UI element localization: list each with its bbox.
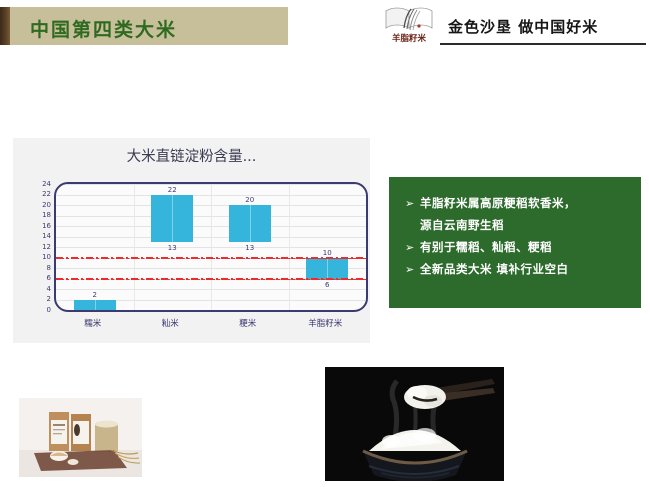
chart-y-tick-label: 12 (42, 244, 51, 251)
brand-logo-icon: 羊脂籽米 (378, 4, 440, 46)
chart-x-tick (211, 184, 212, 310)
chart-bar (306, 258, 348, 279)
chart-x-axis: 糯米籼米粳米羊脂籽米 (54, 315, 368, 331)
chart-panel: 大米直链淀粉含量... 242220181614121086420 202213… (13, 138, 370, 343)
callout-item-text: 全新品类大米 填补行业空白 (420, 262, 569, 276)
chart-category-label: 糯米 (56, 317, 130, 329)
chart-y-axis: 242220181614121086420 (27, 182, 51, 312)
chart-bar-bottom-label: 13 (152, 244, 192, 252)
chart-bar-bottom-label: 13 (230, 244, 270, 252)
chart-category-label: 籼米 (134, 317, 208, 329)
brand-block: 羊脂籽米 金色沙垦 做中国好米 (378, 4, 646, 48)
chart-bar (151, 195, 193, 242)
chart-category-label: 羊脂籽米 (289, 317, 363, 329)
chart-bar-divider (95, 300, 96, 311)
chart-bar-top-label: 10 (307, 249, 347, 257)
chart-y-tick-label: 6 (47, 275, 51, 282)
brand-tagline: 金色沙垦 做中国好米 (448, 16, 598, 37)
banner-left-edge (0, 7, 10, 45)
brand-underline (440, 43, 646, 45)
brand-logo-name: 羊脂籽米 (378, 32, 440, 44)
arrow-bullet-icon: ➢ (405, 263, 420, 276)
chart-plot-inner: 2022132013106 (56, 184, 366, 310)
callout-item-continuation: 源自云南野生稻 (405, 217, 650, 233)
callout-box: ➢羊脂籽米属高原粳稻软香米，源自云南野生稻➢有别于糯稻、籼稻、粳稻➢全新品类大米… (389, 177, 641, 308)
arrow-bullet-icon: ➢ (405, 241, 420, 254)
chart-reference-line (56, 279, 366, 280)
chart-y-tick-label: 24 (42, 181, 51, 188)
chart-bar (229, 205, 271, 242)
chart-bar-divider (327, 258, 328, 279)
rice-bowl-photo (325, 367, 504, 481)
chart-bar-top-label: 2 (75, 291, 115, 299)
chart-plot-area: 2022132013106 (54, 182, 368, 312)
chart-y-tick-label: 16 (42, 223, 51, 230)
chart-bar-top-label: 20 (230, 196, 270, 204)
callout-item: ➢有别于糯稻、籼稻、粳稻 (405, 239, 637, 255)
callout-item-text: 有别于糯稻、籼稻、粳稻 (420, 240, 552, 254)
open-book-icon (378, 4, 440, 34)
chart-y-tick-label: 10 (42, 254, 51, 261)
chart-bar (74, 300, 116, 311)
chart-bar-divider (250, 205, 251, 242)
chart-y-tick-label: 4 (47, 286, 51, 293)
callout-item: ➢全新品类大米 填补行业空白 (405, 261, 637, 277)
chart-y-tick-label: 14 (42, 233, 51, 240)
chart-bar-divider (172, 195, 173, 242)
chart-y-tick-label: 20 (42, 202, 51, 209)
arrow-bullet-icon: ➢ (405, 197, 420, 210)
chart-y-tick-label: 0 (47, 307, 51, 314)
callout-item-text: 羊脂籽米属高原粳稻软香米， (420, 196, 576, 210)
chart-y-tick-label: 18 (42, 212, 51, 219)
rice-packaging-illustration (19, 398, 142, 477)
cooked-rice-bowl-illustration (325, 367, 504, 481)
chart-title: 大米直链淀粉含量... (13, 145, 370, 166)
page-title: 中国第四类大米 (30, 15, 177, 42)
chart-category-label: 粳米 (211, 317, 285, 329)
chart-y-tick-label: 22 (42, 191, 51, 198)
chart-y-tick-label: 8 (47, 265, 51, 272)
chart-bar-bottom-label: 6 (307, 281, 347, 289)
chart-bar-top-label: 22 (152, 186, 192, 194)
chart-x-tick (289, 184, 290, 310)
chart-y-tick-label: 2 (47, 296, 51, 303)
callout-item: ➢羊脂籽米属高原粳稻软香米， (405, 195, 637, 211)
chart-reference-line (56, 258, 366, 259)
chart-x-tick (134, 184, 135, 310)
product-photo (19, 398, 142, 477)
header-banner: 中国第四类大米 (0, 7, 288, 45)
